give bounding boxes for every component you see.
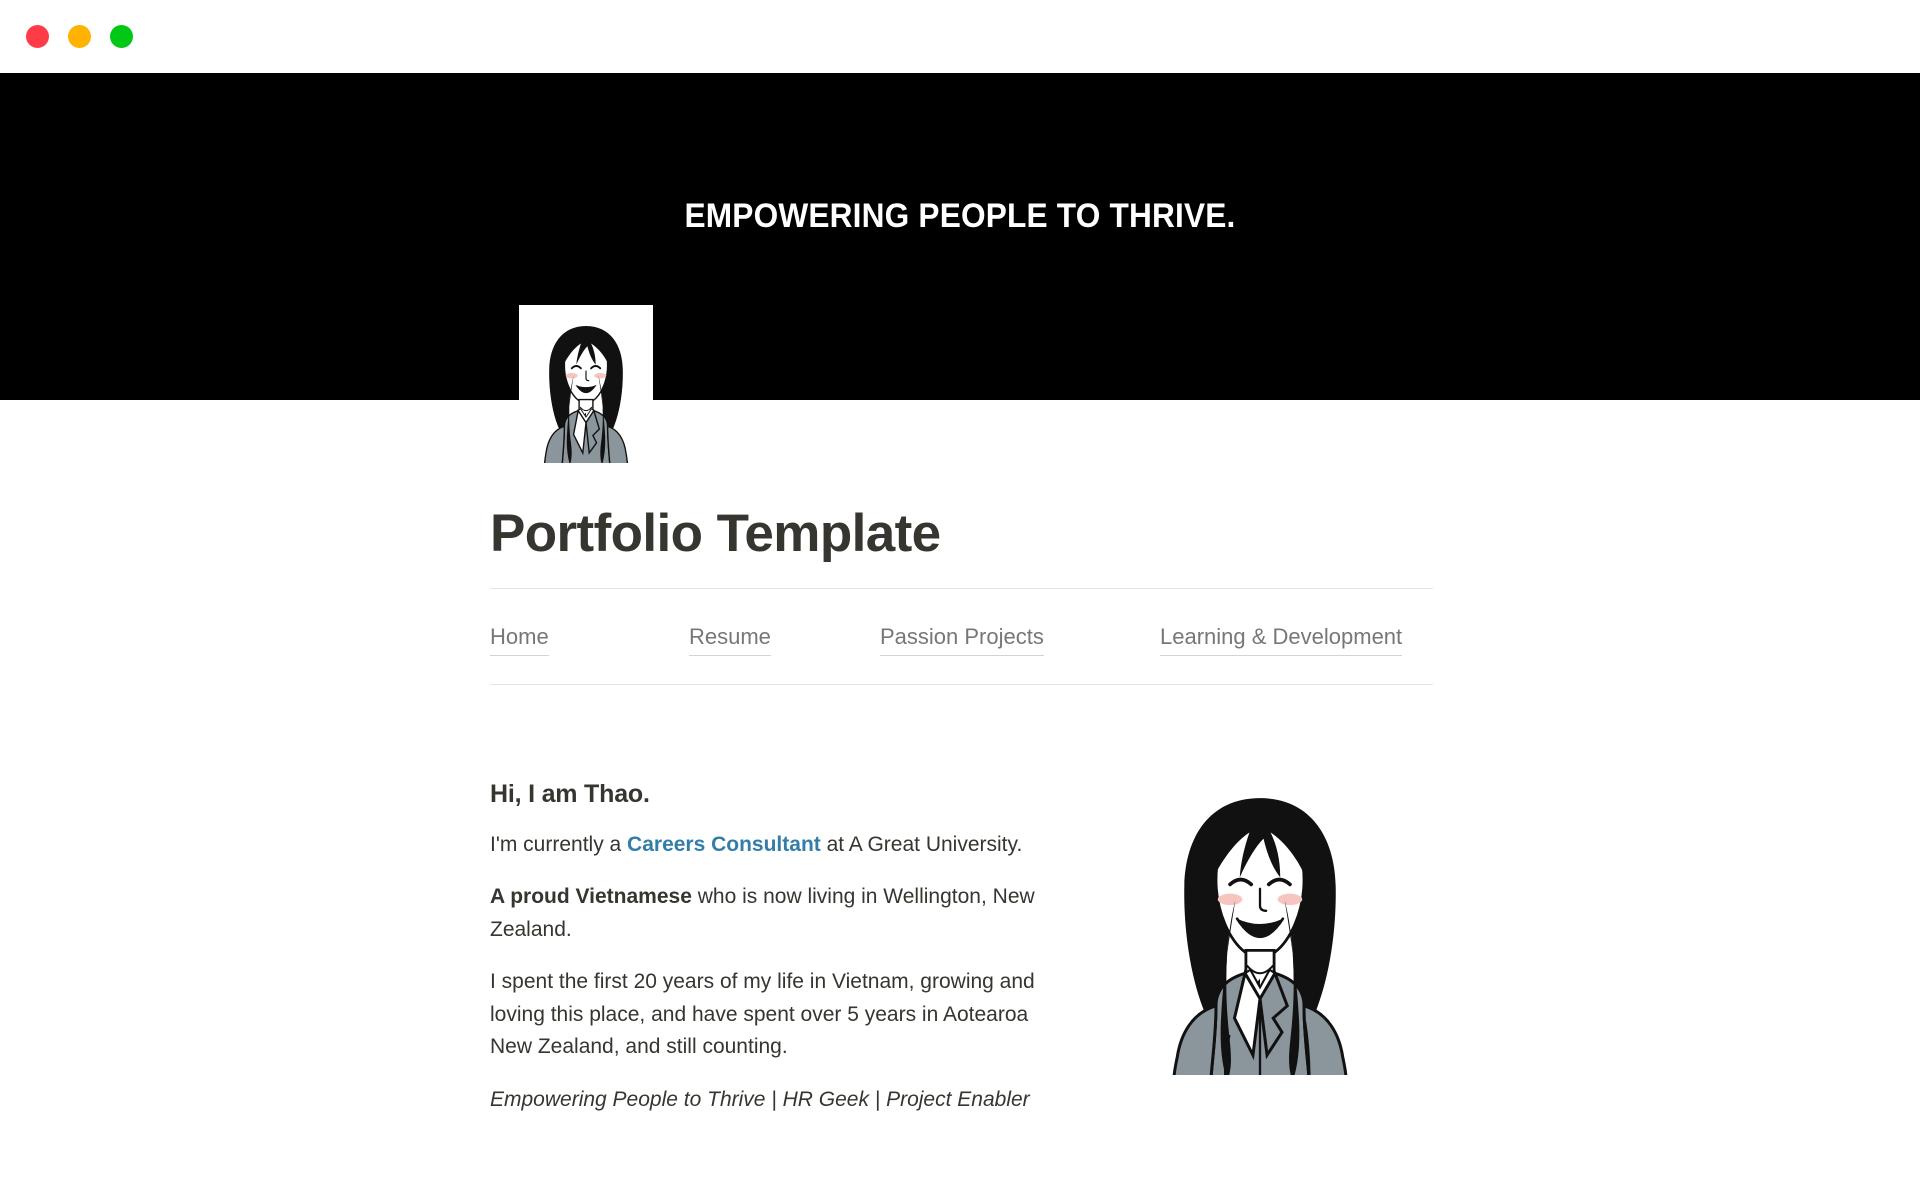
nav-item-home[interactable]: Home [490, 622, 549, 656]
window-title-bar [0, 0, 1920, 73]
hero-tagline: EMPOWERING PEOPLE TO THRIVE. [67, 199, 1853, 233]
intro-paragraph-history: I spent the first 20 years of my life in… [490, 966, 1035, 1064]
intro-text-after-link: at A Great University. [821, 833, 1023, 856]
profile-avatar [519, 305, 653, 463]
maximize-window-button[interactable] [110, 25, 133, 48]
intro-paragraph-nationality: A proud Vietnamese who is now living in … [490, 881, 1035, 946]
intro-section: Hi, I am Thao. I'm currently a Careers C… [490, 778, 1035, 1116]
intro-paragraph-current-role: I'm currently a Careers Consultant at A … [490, 829, 1035, 862]
close-window-button[interactable] [26, 25, 49, 48]
portrait-illustration-icon [1125, 773, 1395, 1075]
nav-divider-top [490, 588, 1433, 589]
nav-item-passion-projects[interactable]: Passion Projects [880, 622, 1044, 656]
intro-bold-nationality: A proud Vietnamese [490, 885, 692, 908]
nav-item-resume[interactable]: Resume [689, 622, 771, 656]
hero-portrait-illustration [1125, 773, 1395, 1075]
intro-heading: Hi, I am Thao. [490, 778, 1035, 811]
nav-item-learning-development[interactable]: Learning & Development [1160, 622, 1402, 656]
careers-consultant-link[interactable]: Careers Consultant [627, 833, 821, 856]
main-navigation: Home Resume Passion Projects Learning & … [490, 622, 1433, 662]
nav-divider-bottom [490, 684, 1433, 685]
intro-text-before-link: I'm currently a [490, 833, 627, 856]
traffic-light-group [26, 25, 133, 48]
page-title: Portfolio Template [490, 505, 941, 563]
minimize-window-button[interactable] [68, 25, 91, 48]
intro-italic-tagline: Empowering People to Thrive | HR Geek | … [490, 1088, 1030, 1111]
avatar-illustration-icon [519, 305, 653, 463]
hero-banner: EMPOWERING PEOPLE TO THRIVE. [0, 73, 1920, 400]
intro-paragraph-tagline: Empowering People to Thrive | HR Geek | … [490, 1084, 1035, 1117]
